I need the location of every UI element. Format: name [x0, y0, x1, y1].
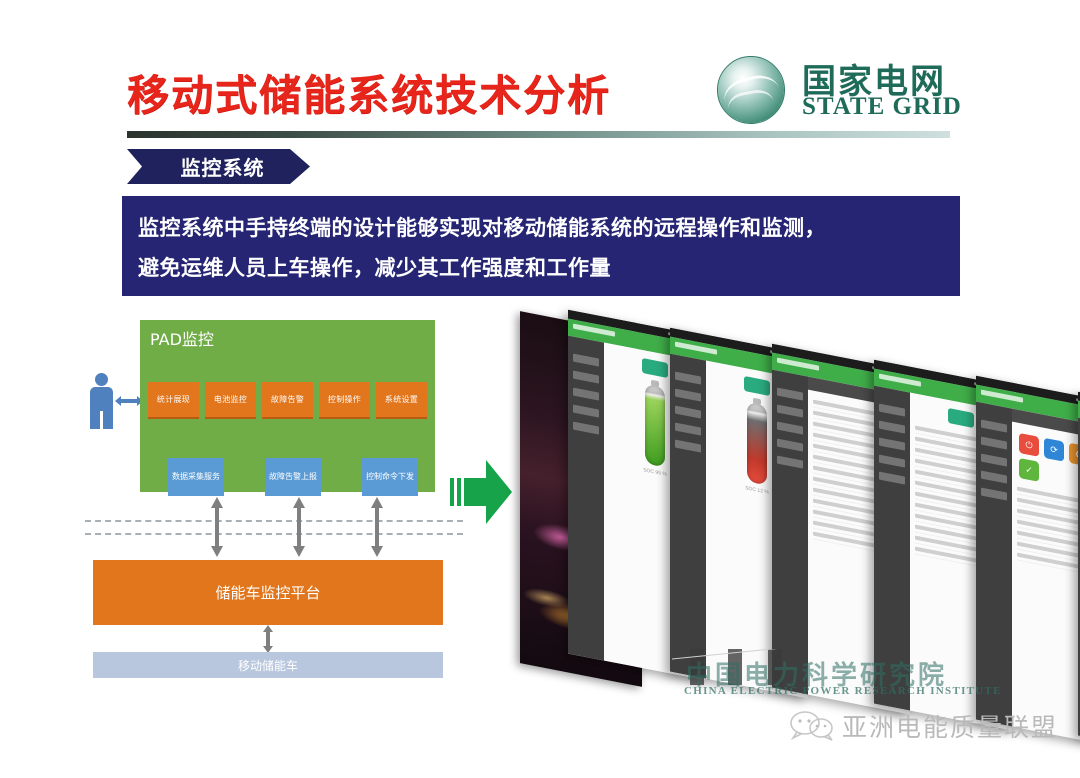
state-grid-logo: 国家电网 STATE GRID — [718, 55, 966, 125]
battery-gauge-red — [747, 402, 767, 486]
section-chevron-label: 监控系统 — [173, 152, 265, 181]
service-module[interactable]: 控制命令下发 — [362, 458, 418, 496]
wechat-watermark: 亚洲电能质量联盟 — [790, 706, 1070, 746]
vertical-bidirectional-arrow-icon — [369, 497, 385, 557]
operator-actor — [85, 373, 140, 433]
status-badge — [642, 358, 668, 378]
right-arrow-icon — [450, 452, 512, 532]
person-icon-body — [90, 387, 113, 412]
page-title: 移动式储能系统技术分析 — [127, 62, 611, 123]
monitoring-platform-bar: 储能车监控平台 — [93, 560, 443, 625]
logo-title-en: STATE GRID — [802, 93, 962, 121]
app-sidebar[interactable] — [670, 354, 706, 679]
service-module[interactable]: 数据采集服务 — [168, 458, 224, 496]
person-icon-legs — [90, 411, 113, 429]
vertical-bidirectional-arrow-icon — [260, 625, 276, 653]
app-sidebar[interactable] — [772, 370, 808, 695]
function-module[interactable]: 统计展现 — [148, 382, 199, 419]
monitoring-platform-label: 储能车监控平台 — [215, 582, 320, 603]
function-module[interactable]: 故障告警 — [262, 382, 313, 419]
mobile-storage-vehicle-label: 移动储能车 — [238, 657, 298, 674]
cepri-watermark: 中国电力科学研究院 CHINA ELECTRIC POWER RESEARCH … — [672, 655, 972, 703]
wechat-icon — [790, 711, 834, 741]
tablet-screenshot-stack: SOC 95 % SOC 12 % — [520, 305, 1080, 695]
statement-banner: 监控系统中手持终端的设计能够实现对移动储能系统的远程操作和监测， 避免运维人员上… — [122, 196, 960, 296]
check-tile-icon[interactable]: ✓ — [1019, 458, 1039, 482]
status-badge — [744, 376, 770, 396]
status-badge — [948, 408, 974, 428]
bidirectional-arrow-icon — [115, 395, 143, 407]
section-chevron-banner: 监控系统 — [127, 149, 310, 184]
architecture-diagram: PAD监控 统计展现 电池监控 故障告警 控制操作 系统设置 数据采集服务 故障… — [85, 315, 465, 685]
wechat-account-label: 亚洲电能质量联盟 — [842, 708, 1058, 744]
pad-monitoring-title: PAD监控 — [150, 326, 214, 350]
boundary-dashed-line — [85, 533, 463, 535]
function-module[interactable]: 系统设置 — [376, 382, 427, 419]
vertical-bidirectional-arrow-icon — [291, 497, 307, 557]
app-sidebar[interactable] — [568, 336, 604, 661]
statement-line-1: 监控系统中手持终端的设计能够实现对移动储能系统的远程操作和监测， — [138, 208, 944, 248]
function-module[interactable]: 控制操作 — [319, 382, 370, 419]
refresh-tile-icon[interactable]: ⟳ — [1044, 438, 1064, 462]
power-tile-icon[interactable]: ⏻ — [1019, 433, 1039, 457]
boundary-dashed-line — [85, 520, 463, 522]
header-divider — [127, 131, 950, 138]
service-module-row: 数据采集服务 故障告警上报 控制命令下发 — [168, 458, 418, 496]
app-sidebar[interactable] — [976, 402, 1012, 727]
cepri-name-en: CHINA ELECTRIC POWER RESEARCH INSTITUTE — [684, 685, 1002, 697]
battery-gauge-green — [645, 384, 665, 468]
pad-monitoring-box: PAD监控 统计展现 电池监控 故障告警 控制操作 系统设置 数据采集服务 故障… — [140, 320, 435, 492]
vertical-bidirectional-arrow-icon — [209, 497, 225, 557]
service-module[interactable]: 故障告警上报 — [265, 458, 321, 496]
mobile-storage-vehicle-bar: 移动储能车 — [93, 652, 443, 678]
statement-line-2: 避免运维人员上车操作，减少其工作强度和工作量 — [138, 248, 944, 288]
person-icon-head — [95, 373, 108, 386]
function-module[interactable]: 电池监控 — [205, 382, 256, 419]
app-content: ⏻ ⟳ ⚙ ✓ — [1012, 409, 1080, 747]
logo-ring-decoration — [717, 56, 785, 124]
function-module-row: 统计展现 电池监控 故障告警 控制操作 系统设置 — [148, 382, 427, 419]
